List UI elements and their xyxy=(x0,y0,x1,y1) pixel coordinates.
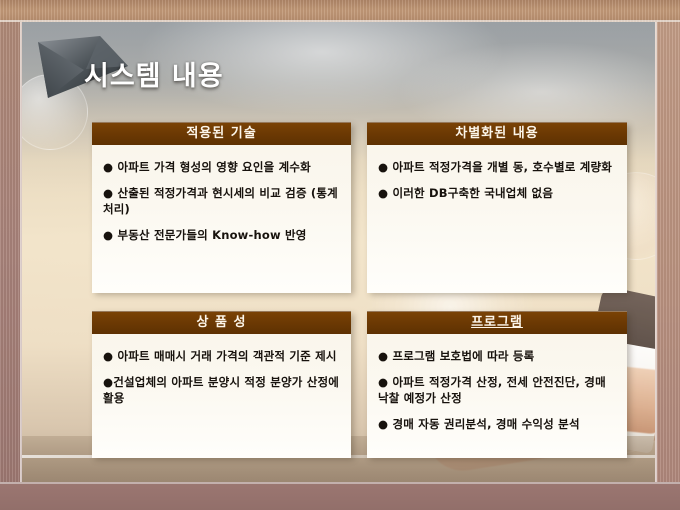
frame-right-band xyxy=(655,22,680,482)
content-box-program: 프로그램 ● 프로그램 보호법에 따라 등록 ● 아파트 적정가격 산정, 전세… xyxy=(367,311,627,457)
list-item: ● 경매 자동 권리분석, 경매 수익성 분석 xyxy=(378,416,616,433)
box-header-differentiated-content: 차별화된 내용 xyxy=(367,122,627,145)
content-box-differentiated-content: 차별화된 내용 ● 아파트 적정가격을 개별 동, 호수별로 계량화 ● 이러한… xyxy=(367,122,627,292)
box-body-product-value: ● 아파트 매매시 거래 가격의 객관적 기준 제시 ●건설업체의 아파트 분양… xyxy=(92,334,351,458)
list-item: ● 아파트 적정가격을 개별 동, 호수별로 계량화 xyxy=(378,159,616,176)
box-header-label: 적용된 기술 xyxy=(186,126,256,141)
frame-bottom-band xyxy=(0,482,680,510)
content-box-applied-technology: 적용된 기술 ● 아파트 가격 형성의 영향 요인을 계수화 ● 산출된 적정가… xyxy=(92,122,351,292)
box-header-label: 차별화된 내용 xyxy=(455,126,538,141)
box-header-label: 상 품 성 xyxy=(197,315,247,330)
box-body-differentiated-content: ● 아파트 적정가격을 개별 동, 호수별로 계량화 ● 이러한 DB구축한 국… xyxy=(367,145,627,293)
box-header-product-value: 상 품 성 xyxy=(92,311,351,334)
list-item: ● 산출된 적정가격과 현시세의 비교 검증 (통계 처리) xyxy=(103,185,340,218)
list-item: ● 아파트 가격 형성의 영향 요인을 계수화 xyxy=(103,159,340,176)
list-item: ● 아파트 적정가격 산정, 전세 안전진단, 경매 낙찰 예정가 산정 xyxy=(378,374,616,407)
list-item: ● 부동산 전문가들의 Know-how 반영 xyxy=(103,227,340,244)
frame-left-band xyxy=(0,22,22,482)
frame-top-band xyxy=(0,0,680,22)
list-item: ● 아파트 매매시 거래 가격의 객관적 기준 제시 xyxy=(103,348,340,365)
list-item: ●건설업체의 아파트 분양시 적정 분양가 산정에 활용 xyxy=(103,374,340,407)
page-title: 시스템 내용 xyxy=(84,54,224,93)
box-body-program: ● 프로그램 보호법에 따라 등록 ● 아파트 적정가격 산정, 전세 안전진단… xyxy=(367,334,627,458)
list-item: ● 프로그램 보호법에 따라 등록 xyxy=(378,348,616,365)
list-item: ● 이러한 DB구축한 국내업체 없음 xyxy=(378,185,616,202)
box-header-label: 프로그램 xyxy=(471,315,523,330)
box-body-applied-technology: ● 아파트 가격 형성의 영향 요인을 계수화 ● 산출된 적정가격과 현시세의… xyxy=(92,145,351,293)
content-box-product-value: 상 품 성 ● 아파트 매매시 거래 가격의 객관적 기준 제시 ●건설업체의 … xyxy=(92,311,351,457)
box-header-applied-technology: 적용된 기술 xyxy=(92,122,351,145)
slide-canvas: 시스템 내용 적용된 기술 ● 아파트 가격 형성의 영향 요인을 계수화 ● … xyxy=(22,22,655,482)
slide-stage: 시스템 내용 적용된 기술 ● 아파트 가격 형성의 영향 요인을 계수화 ● … xyxy=(0,0,680,510)
box-header-program: 프로그램 xyxy=(367,311,627,334)
